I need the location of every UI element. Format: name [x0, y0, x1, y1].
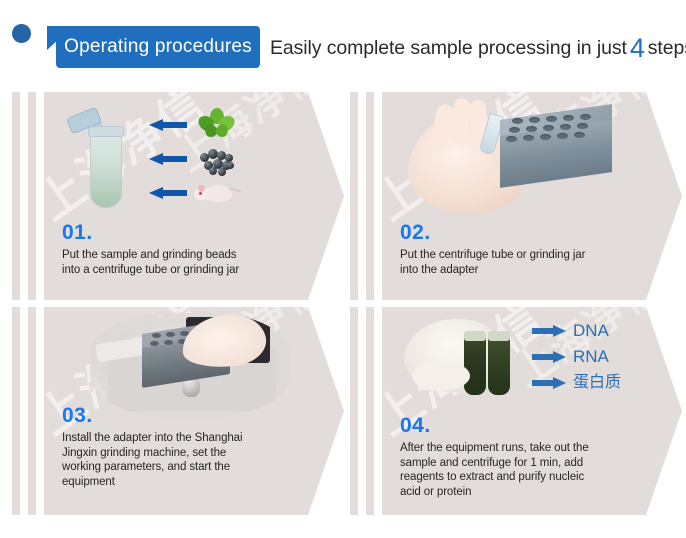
output-row-dna: DNA: [532, 317, 662, 343]
arrow-left-icon: [149, 187, 187, 198]
card-accent-bar: [350, 92, 358, 300]
step-number: 03.: [62, 405, 304, 426]
step-card-03: 上海净信 上海净信 03. Install the adapter into: [12, 307, 344, 515]
decorative-dot-icon: [12, 24, 31, 43]
step-description: Put the sample and grinding beads into a…: [62, 248, 304, 277]
card-body: 上海净信 上海净信 02. Put the centrif: [382, 92, 682, 300]
arrow-right-icon: [532, 325, 566, 336]
card-accent-bar: [12, 307, 20, 515]
arrow-right-icon: [532, 377, 566, 388]
card-body: 上海净信 上海净信 03. Install the adapter into: [44, 307, 344, 515]
card-body: 上海净信 上海净信: [44, 92, 344, 300]
card-accent-bar: [350, 307, 358, 515]
step-number: 02.: [400, 222, 642, 243]
arrow-left-icon: [149, 119, 187, 130]
arrow-right-icon: [532, 351, 566, 362]
page-title-suffix: steps:: [648, 37, 686, 60]
step-number: 01.: [62, 222, 304, 243]
gloved-hand-tubes-photo: [404, 315, 544, 411]
step-description: Put the centrifuge tube or grinding jar …: [400, 248, 642, 277]
sample-row-leaf: [149, 112, 261, 136]
steps-grid: 上海净信 上海净信: [0, 86, 686, 538]
card-accent-bar: [12, 92, 20, 300]
page-title: Easily complete sample processing in jus…: [270, 28, 682, 68]
output-label: DNA: [573, 322, 609, 339]
step-number: 04.: [400, 415, 642, 436]
page-title-prefix: Easily complete sample processing in jus…: [270, 37, 627, 60]
page-header: Operating procedures Easily complete sam…: [0, 0, 686, 86]
step-text-block: 01. Put the sample and grinding beads in…: [62, 222, 304, 277]
card-body: 上海净信 上海净信 DNA RNA: [382, 307, 682, 515]
step-text-block: 02. Put the centrifuge tube or grinding …: [400, 222, 642, 277]
step-text-block: 04. After the equipment runs, take out t…: [400, 415, 642, 499]
extraction-outputs-list: DNA RNA 蛋白质: [532, 317, 662, 395]
card-accent-bar: [28, 92, 36, 300]
output-row-rna: RNA: [532, 343, 662, 369]
card-accent-bar: [366, 92, 374, 300]
centrifuge-tube-icon: [72, 110, 134, 210]
output-label: 蛋白质: [573, 374, 621, 390]
output-row-protein: 蛋白质: [532, 369, 662, 395]
card-accent-bar: [28, 307, 36, 515]
grinding-beads-icon: [196, 143, 240, 173]
hand-holding-adapter-photo: [408, 96, 620, 218]
operating-procedures-badge: Operating procedures: [56, 26, 260, 68]
step-card-02: 上海净信 上海净信 02. Put the centrif: [350, 92, 682, 300]
mouse-sample-icon: [196, 177, 240, 207]
card-accent-bar: [366, 307, 374, 515]
page-title-step-count: 4: [627, 35, 648, 62]
badge-label: Operating procedures: [64, 36, 252, 58]
step-card-01: 上海净信 上海净信: [12, 92, 344, 300]
step-description: After the equipment runs, take out the s…: [400, 441, 642, 499]
step-description: Install the adapter into the Shanghai Ji…: [62, 431, 304, 489]
sample-row-mouse: [149, 180, 261, 204]
arrow-left-icon: [149, 153, 187, 164]
step-text-block: 03. Install the adapter into the Shangha…: [62, 405, 304, 489]
adapter-in-machine-photo: [90, 313, 290, 417]
leaf-sample-icon: [196, 109, 240, 139]
output-label: RNA: [573, 348, 609, 365]
step-card-04: 上海净信 上海净信 DNA RNA: [350, 307, 682, 515]
sample-row-beads: [149, 146, 261, 170]
